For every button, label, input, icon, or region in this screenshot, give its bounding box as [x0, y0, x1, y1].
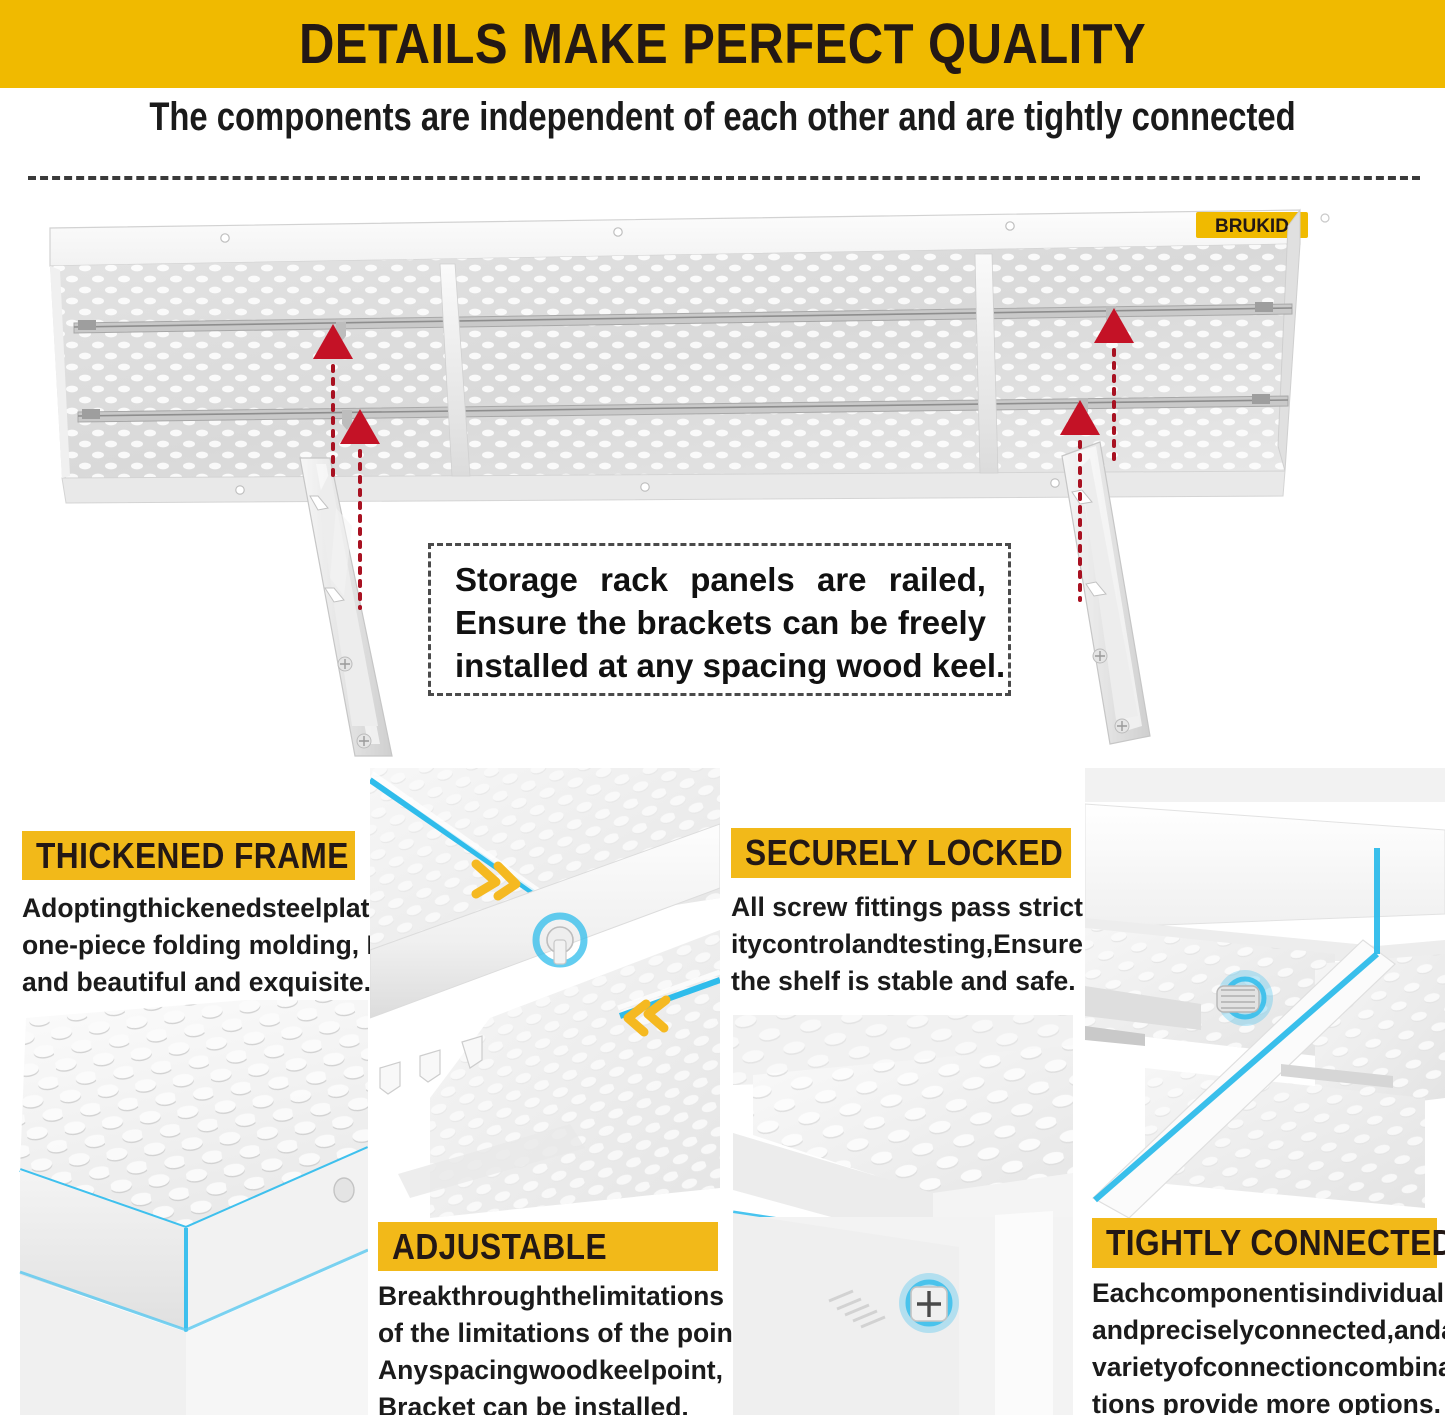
feature-title-tightly-connected: TIGHTLY CONNECTED — [1106, 1222, 1445, 1264]
word: and — [852, 926, 899, 963]
highlighted-bolt-connection — [1217, 970, 1273, 1026]
feature-text-line: Bracket can be installed. — [378, 1389, 723, 1415]
feature-body-securely-locked: All screw fittings pass strict qual- ity… — [731, 889, 1076, 1000]
feature-text-line: the shelf is stable and safe. — [731, 963, 1076, 1000]
feature-body-tightly-connected: Each component is individually and preci… — [1092, 1275, 1442, 1415]
word: Each — [1092, 1275, 1155, 1312]
feature-title-thickened-frame: THICKENED FRAME — [36, 835, 349, 877]
word: is — [1298, 1275, 1320, 1312]
word: of — [1177, 1349, 1202, 1386]
feature-title-bar-securely-locked: SECURELY LOCKED — [731, 828, 1071, 878]
feature-text-line: variety of connection combina- — [1092, 1349, 1442, 1386]
feature-text-line: ity control and testing, Ensure — [731, 926, 1076, 963]
word: the — [552, 1278, 592, 1315]
word: spacing — [429, 1352, 529, 1389]
callout-word: panels — [690, 558, 795, 601]
feature-text-line: of the limitations of the point, — [378, 1315, 723, 1352]
word: connection — [1202, 1349, 1343, 1386]
feature-text-line: Each component is individually — [1092, 1275, 1442, 1312]
word: combina- — [1344, 1349, 1445, 1386]
feature-title-adjustable: ADJUSTABLE — [392, 1226, 607, 1268]
word: Any — [378, 1352, 428, 1389]
callout-word: brackets — [637, 601, 773, 644]
word: and — [1092, 1312, 1139, 1349]
feature-body-thickened-frame: Adopting thickened steel plate one-piece… — [22, 890, 367, 1001]
feature-title-bar-adjustable: ADJUSTABLE — [378, 1222, 718, 1271]
callout-word: can — [782, 601, 839, 644]
feature-text-line: Adopting thickened steel plate — [22, 890, 367, 927]
left-shelf-bracket — [300, 458, 392, 756]
feature-title-securely-locked: SECURELY LOCKED — [745, 832, 1063, 874]
highlighted-screw — [899, 1273, 959, 1333]
feature-title-bar-tightly-connected: TIGHTLY CONNECTED — [1092, 1218, 1437, 1268]
callout-line-3: installed at any spacing wood keel. — [455, 644, 986, 687]
header-divider — [28, 176, 1420, 180]
callout-line-2: Ensure the brackets can be freely — [455, 601, 986, 644]
word: component — [1155, 1275, 1298, 1312]
feature-title-bar-thickened-frame: THICKENED FRAME — [22, 831, 355, 880]
feature-text-line: All screw fittings pass strict qual- — [731, 889, 1076, 926]
word: through — [452, 1278, 552, 1315]
callout-word: the — [577, 601, 627, 644]
brand-label: BRUKID — [1215, 216, 1289, 237]
word: keel — [599, 1352, 651, 1389]
word: and — [1394, 1312, 1441, 1349]
word: Break — [378, 1278, 452, 1315]
word: point, — [651, 1352, 723, 1389]
photo-tightly-connected — [1085, 768, 1445, 1218]
infographic-page: DETAILS MAKE PERFECT QUALITY The compone… — [0, 0, 1445, 1415]
feature-text-line: and beautiful and exquisite. — [22, 964, 367, 1001]
word: ity — [731, 926, 762, 963]
word: Adopting — [22, 890, 138, 927]
feature-text-line: Any spacing wood keel point, — [378, 1352, 723, 1389]
word: individually — [1320, 1275, 1445, 1312]
word: precisely — [1139, 1312, 1254, 1349]
feature-text-line: Break through the limitations — [378, 1278, 723, 1315]
word: limitations — [592, 1278, 725, 1315]
word: control — [762, 926, 852, 963]
callout-word: Storage — [455, 558, 578, 601]
photo-securely-locked — [733, 1015, 1073, 1415]
header-banner: DETAILS MAKE PERFECT QUALITY — [0, 0, 1445, 88]
feature-text-line: tions provide more options. — [1092, 1386, 1442, 1415]
callout-word: are — [817, 558, 867, 601]
word: testing, — [899, 926, 993, 963]
word: wood — [529, 1352, 598, 1389]
callout-line-1: Storage rack panels are railed, — [455, 558, 986, 601]
word: a — [1441, 1312, 1445, 1349]
callout-word: rack — [600, 558, 668, 601]
brand-badge: BRUKID — [1196, 212, 1329, 238]
callout-word: railed, — [889, 558, 986, 601]
callout-word: Ensure — [455, 601, 567, 644]
feature-text-line: one-piece folding molding, Flat — [22, 927, 367, 964]
feature-text-line: and precisely connected, and a — [1092, 1312, 1442, 1349]
photo-adjustable — [370, 768, 720, 1218]
word: steel — [262, 890, 322, 927]
word: Ensure — [993, 926, 1083, 963]
word: variety — [1092, 1349, 1177, 1386]
callout-word: be — [849, 601, 888, 644]
callout-word: freely — [898, 601, 986, 644]
page-title: DETAILS MAKE PERFECT QUALITY — [299, 11, 1146, 77]
callout-box: Storage rack panels are railed, Ensure t… — [428, 543, 1011, 696]
feature-body-adjustable: Break through the limitations of the lim… — [378, 1278, 723, 1415]
page-subtitle: The components are independent of each o… — [130, 95, 1315, 140]
word: thickened — [138, 890, 262, 927]
photo-thickened-frame — [8, 1000, 368, 1415]
word: connected, — [1254, 1312, 1394, 1349]
